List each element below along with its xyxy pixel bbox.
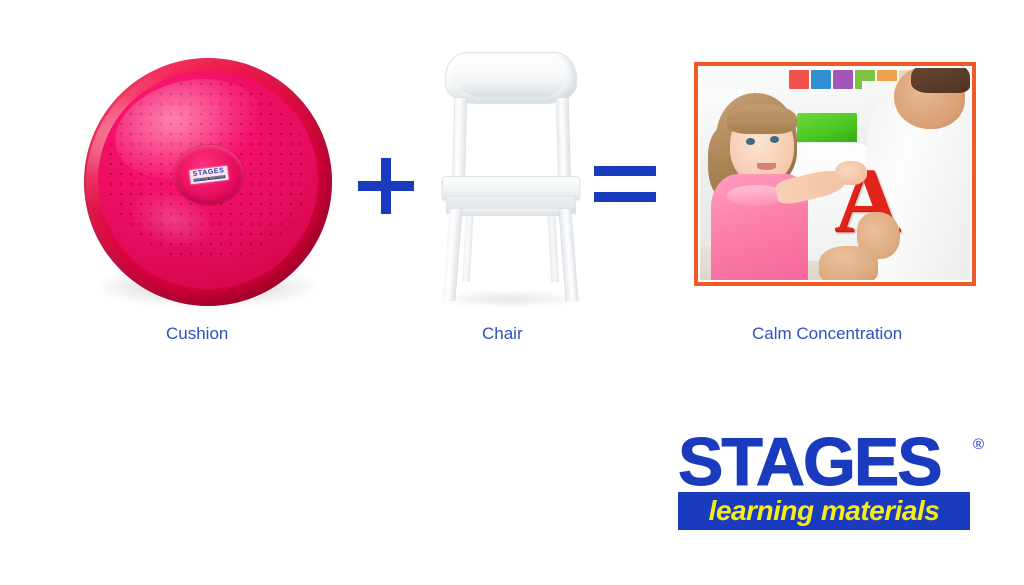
chair-drop-shadow — [434, 292, 586, 306]
equals-operator-icon — [594, 164, 656, 206]
block-blue — [811, 70, 831, 89]
chair-rear-leg-left — [462, 206, 474, 282]
brand-wordmark-row: STAGES ® — [678, 434, 986, 496]
cushion-center-valve: STAGES learning materials — [174, 145, 244, 205]
chair-stretcher — [454, 209, 566, 216]
brand-tagline-bar: learning materials — [678, 492, 970, 530]
photo-girl-mouth — [757, 163, 776, 169]
plus-operator-icon — [358, 158, 414, 214]
label-calm-concentration: Calm Concentration — [752, 324, 902, 344]
photo-girl-hand — [835, 161, 867, 184]
cushion-top-surface: STAGES learning materials — [98, 71, 318, 289]
cushion-outer-rim: STAGES learning materials — [84, 58, 332, 306]
equals-bottom-bar — [594, 192, 656, 202]
result-photo-frame: A — [694, 62, 976, 286]
chair-backrest — [445, 52, 577, 104]
product-chair — [424, 46, 596, 308]
chair-rear-leg-right — [547, 206, 559, 282]
block-purple — [833, 70, 853, 89]
equals-top-bar — [594, 166, 656, 176]
label-chair: Chair — [482, 324, 523, 344]
photo-adult-hair — [911, 68, 970, 93]
photo-girl-eye-left — [746, 138, 755, 145]
label-cushion: Cushion — [166, 324, 228, 344]
brand-wordmark: STAGES — [678, 428, 941, 496]
result-photo-image: A — [700, 68, 970, 280]
brand-logo: STAGES ® learning materials — [678, 434, 986, 536]
cushion-stages-badge: STAGES learning materials — [189, 166, 228, 184]
plus-vertical-bar — [381, 158, 391, 214]
chair-front-leg-left — [442, 209, 462, 301]
registered-trademark-icon: ® — [973, 436, 984, 453]
brand-tagline: learning materials — [709, 497, 940, 525]
product-cushion: STAGES learning materials — [84, 58, 332, 306]
photo-adult-hand-lower — [819, 246, 878, 280]
slide-canvas: STAGES learning materials — [0, 0, 1024, 585]
photo-girl-eye-right — [770, 136, 779, 143]
photo-girl-bangs — [727, 104, 797, 134]
chair-front-leg-right — [558, 209, 578, 301]
block-red — [789, 70, 809, 89]
